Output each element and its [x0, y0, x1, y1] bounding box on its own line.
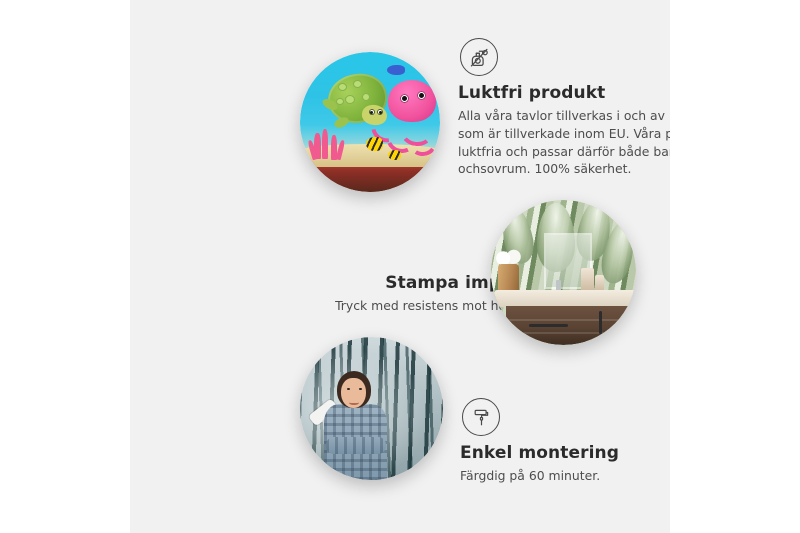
bathroom-scene-inner: [491, 200, 636, 345]
image-bathroom-tropical-wallpaper: [491, 200, 636, 345]
coral-branch: [322, 129, 328, 159]
fish-yellow: [366, 137, 383, 151]
feature-odourless: Luktfri produkt Alla våra tavlor tillver…: [458, 38, 670, 178]
bathroom-vanity: [506, 306, 637, 345]
bathroom-countertop: [494, 290, 636, 307]
vanity-drawer-line: [506, 332, 637, 334]
feature-body: Färgdig på 60 minuter.: [460, 467, 670, 485]
vanity-handle: [599, 311, 602, 334]
woman-folded-arms: [326, 437, 386, 454]
paint-roller-icon: [462, 398, 500, 436]
feature-body: Alla våra tavlor tillverkas i och av pro…: [458, 107, 670, 177]
feature-title: Luktfri produkt: [458, 83, 670, 103]
fish-yellow: [388, 150, 401, 160]
image-underwater-kids-scene: [300, 52, 440, 192]
underwater-scene-inner: [300, 52, 440, 192]
woman-smile: [349, 398, 359, 404]
turtle-spot: [362, 93, 370, 101]
vanity-drawer-line: [506, 319, 637, 321]
image-woman-with-paint-roller: [300, 337, 443, 480]
vanity-handle: [529, 324, 568, 327]
forest-scene-inner: [300, 337, 443, 480]
no-fragrance-spray-icon: [460, 38, 498, 76]
content-panel: Luktfri produkt Alla våra tavlor tillver…: [130, 0, 670, 533]
feature-title: Enkel montering: [460, 443, 670, 463]
feature-mounting: Enkel montering Färgdig på 60 minuter.: [460, 398, 670, 485]
fish-blue: [387, 65, 405, 75]
turtle-spot: [338, 83, 347, 91]
infographic-stage: Luktfri produkt Alla våra tavlor tillver…: [0, 0, 800, 533]
